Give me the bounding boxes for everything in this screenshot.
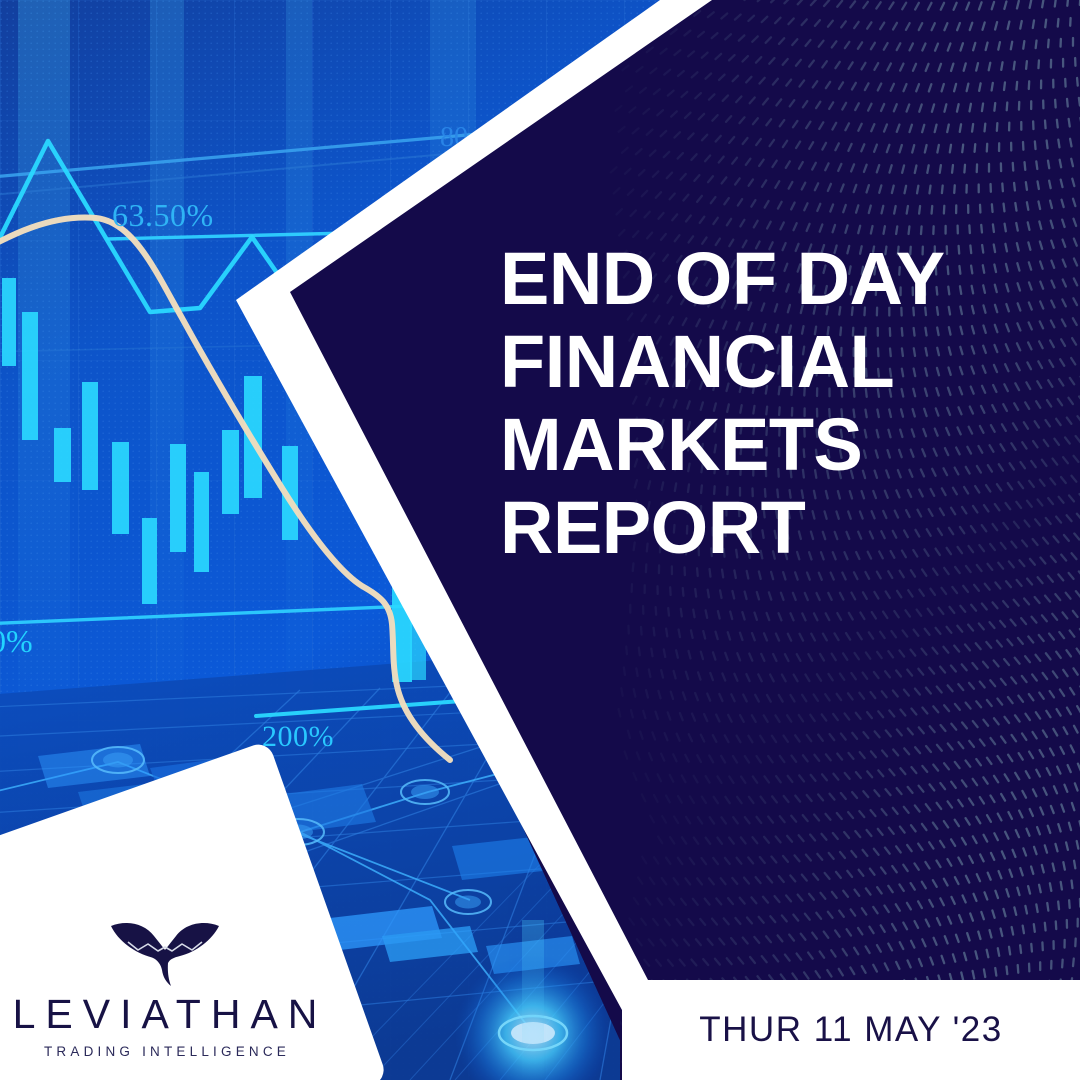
- date-badge: THUR 11 MAY '23: [622, 980, 1080, 1080]
- title-line-3: MARKETS: [500, 404, 1000, 487]
- page-title: END OF DAY FINANCIAL MARKETS REPORT: [500, 238, 1000, 570]
- annotation-percent-clipped: 0%: [0, 623, 33, 659]
- annotation-6350: 63.50%: [112, 197, 214, 233]
- title-line-4: REPORT: [500, 487, 1000, 570]
- poster-root: 63.50% 200% 80 0% END OF DAY FINANCIAL M…: [0, 0, 1080, 1080]
- date-text: THUR 11 MAY '23: [699, 1010, 1002, 1050]
- title-line-1: END OF DAY: [500, 238, 1000, 321]
- annotation-200: 200%: [262, 720, 334, 753]
- title-line-2: FINANCIAL: [500, 321, 1000, 404]
